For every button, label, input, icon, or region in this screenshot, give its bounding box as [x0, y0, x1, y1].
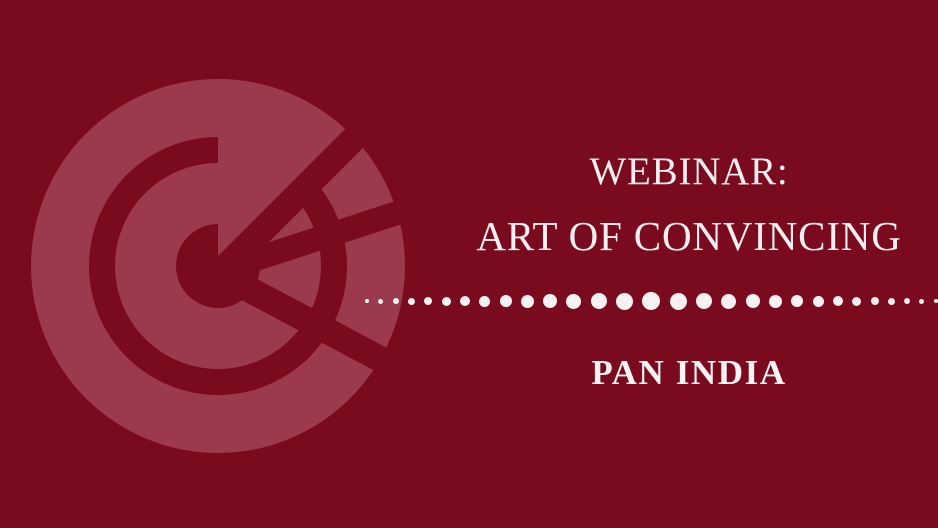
divider-dot	[746, 294, 760, 308]
tagline-text: PAN INDIA	[440, 355, 938, 390]
dotted-divider	[365, 288, 938, 314]
divider-dot	[591, 293, 607, 309]
divider-dot	[888, 298, 895, 305]
divider-dot	[479, 296, 490, 307]
headline-line-2: ART OF CONVINCING	[440, 216, 938, 257]
divider-dot	[696, 293, 712, 309]
headline-line-1: WEBINAR:	[440, 152, 938, 191]
divider-dot	[833, 296, 843, 306]
divider-dot	[393, 298, 399, 304]
divider-dot	[642, 292, 660, 310]
divider-dot	[791, 295, 803, 307]
divider-dot	[813, 296, 824, 307]
divider-dot	[500, 295, 512, 307]
divider-dot	[378, 299, 383, 304]
divider-dot	[408, 298, 415, 305]
divider-dot	[424, 297, 432, 305]
divider-dot	[871, 297, 879, 305]
banner-content: WEBINAR: ART OF CONVINCING PAN INDIA	[440, 0, 938, 528]
divider-dot	[904, 298, 910, 304]
divider-dot	[670, 293, 687, 310]
divider-dot	[521, 295, 534, 308]
webinar-banner: WEBINAR: ART OF CONVINCING PAN INDIA	[0, 0, 938, 528]
divider-dot	[442, 297, 451, 306]
divider-dot	[460, 296, 470, 306]
divider-dot	[566, 294, 581, 309]
divider-dot	[365, 299, 369, 303]
divider-dot	[852, 297, 861, 306]
divider-dot	[616, 293, 633, 310]
divider-dot	[919, 299, 924, 304]
divider-dot	[769, 295, 782, 308]
divider-dot	[934, 299, 938, 303]
divider-dot	[543, 294, 557, 308]
divider-dot	[721, 294, 736, 309]
